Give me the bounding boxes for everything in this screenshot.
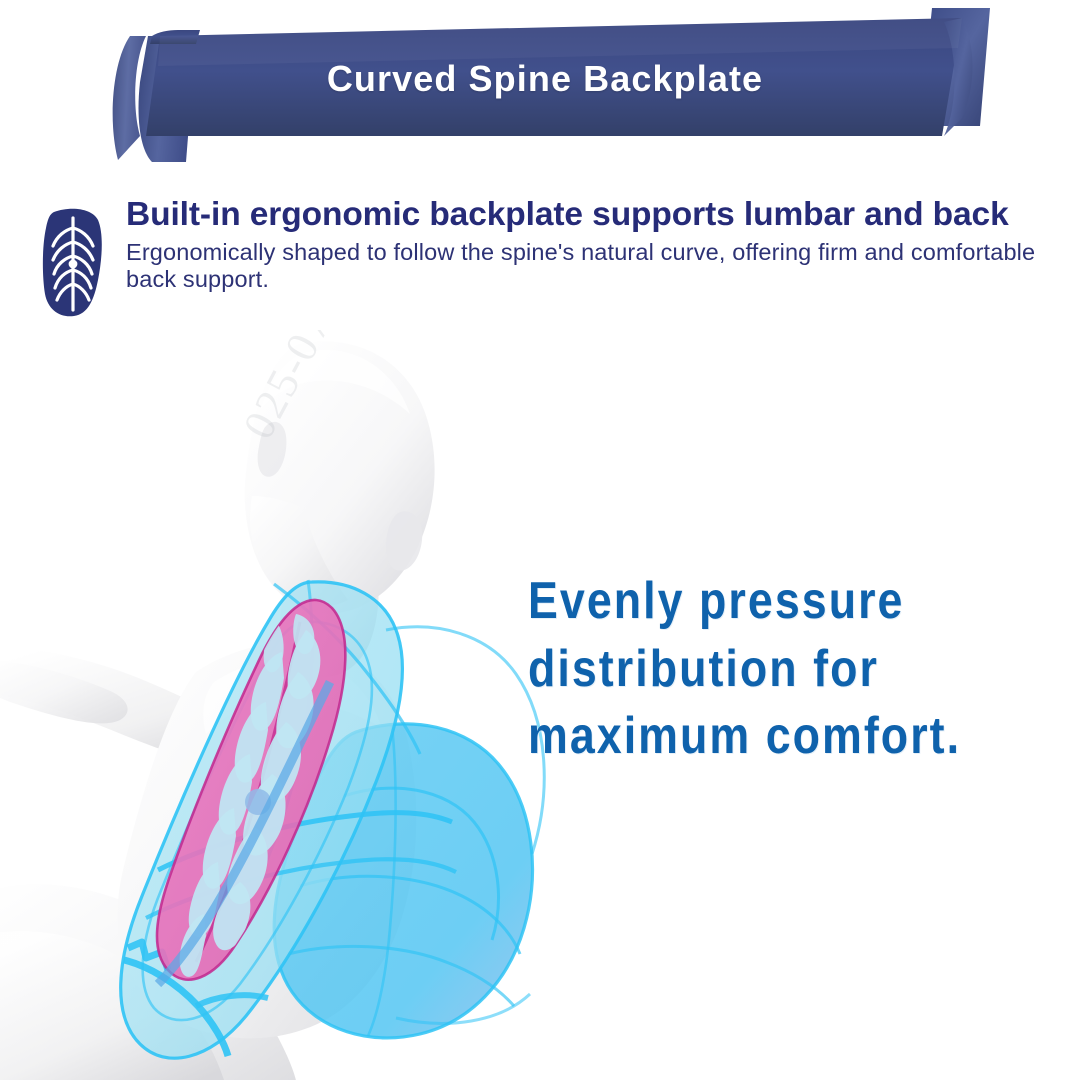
feature-description: Ergonomically shaped to follow the spine… [126, 239, 1050, 294]
spine-backplate-icon [40, 206, 106, 318]
feature-heading: Built-in ergonomic backplate supports lu… [126, 198, 1050, 233]
banner-title: Curved Spine Backplate [0, 58, 1080, 100]
infographic-page: 025-07 [0, 0, 1080, 1080]
tagline-line-1: Evenly pressure [528, 568, 975, 636]
tagline-line-2: distribution for [528, 636, 975, 704]
hero-product-image: 025-07 [0, 330, 600, 1080]
feature-block: Built-in ergonomic backplate supports lu… [40, 198, 1050, 318]
tagline-line-3: maximum comfort. [528, 703, 975, 771]
tagline: Evenly pressure distribution for maximum… [528, 568, 975, 771]
banner: Curved Spine Backplate [0, 0, 1080, 175]
spine-backplate-icon-svg [40, 206, 106, 318]
hero-illustration: 025-07 [0, 330, 600, 1080]
feature-text: Built-in ergonomic backplate supports lu… [126, 198, 1050, 294]
